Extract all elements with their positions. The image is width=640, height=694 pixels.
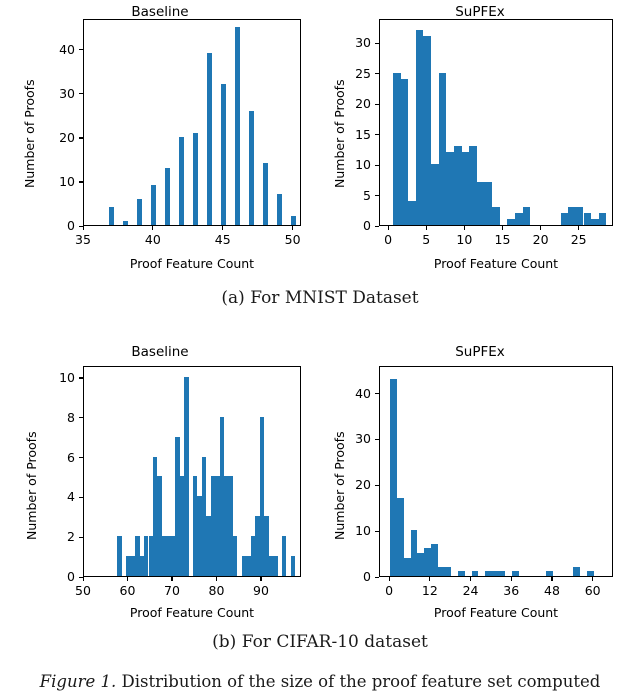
figure-caption: Figure 1. Distribution of the size of th… (0, 672, 640, 691)
bar (291, 216, 296, 225)
x-axis-label: Proof Feature Count (379, 605, 613, 620)
plot-area (83, 19, 301, 226)
bar (249, 111, 254, 226)
y-tick-mark (79, 49, 83, 50)
y-axis-label: Number of Proofs (332, 79, 347, 188)
chart-title: Baseline (0, 4, 320, 20)
x-tick-mark (429, 577, 430, 581)
bar (263, 163, 268, 225)
x-tick-mark (152, 226, 153, 230)
bar (423, 36, 431, 225)
x-tick-label: 25 (559, 232, 599, 247)
x-tick-label: 45 (203, 232, 243, 247)
bar (477, 182, 485, 225)
plot-area (379, 366, 613, 577)
x-tick-label: 35 (63, 232, 103, 247)
figure-caption-text: Distribution of the size of the proof fe… (121, 672, 600, 691)
bar (439, 73, 447, 225)
y-axis-label: Number of Proofs (22, 79, 37, 188)
chart-panel-cifar-baseline: Baseline 02468105060708090 Proof Feature… (0, 340, 320, 620)
x-tick-label: 60 (573, 583, 613, 598)
chart-panel-cifar-supfex: SuPFEx 01020304001224364860 Proof Featur… (320, 340, 640, 620)
y-tick-mark (375, 577, 379, 578)
x-axis-label: Proof Feature Count (83, 256, 301, 271)
x-tick-mark (551, 577, 552, 581)
y-tick-mark (79, 181, 83, 182)
x-tick-mark (83, 226, 84, 230)
x-tick-label: 0 (369, 583, 409, 598)
x-tick-mark (426, 226, 427, 230)
y-tick-mark (79, 417, 83, 418)
bar (576, 207, 584, 225)
y-tick-label: 5 (333, 188, 371, 203)
x-tick-mark (502, 226, 503, 230)
bar (499, 571, 506, 576)
y-tick-label: 40 (37, 42, 75, 57)
y-tick-mark (375, 531, 379, 532)
bar (165, 168, 170, 225)
chart-title: Baseline (0, 344, 320, 360)
bar (123, 221, 128, 225)
x-tick-label: 20 (521, 232, 561, 247)
y-tick-mark (375, 43, 379, 44)
bar (151, 185, 156, 225)
bar (591, 219, 599, 225)
bar (492, 207, 500, 225)
y-tick-label: 0 (333, 218, 371, 233)
y-tick-label: 10 (37, 174, 75, 189)
bar (573, 567, 580, 576)
bar (431, 544, 438, 576)
bars-group (380, 20, 612, 225)
y-tick-label: 8 (37, 410, 75, 425)
x-tick-label: 50 (273, 232, 313, 247)
bar (458, 571, 465, 576)
y-tick-label: 0 (37, 569, 75, 584)
bar (444, 567, 451, 576)
bar (587, 571, 594, 576)
y-tick-label: 6 (37, 450, 75, 465)
bar (492, 571, 499, 576)
bar (523, 207, 531, 225)
bar (408, 201, 416, 225)
x-tick-mark (592, 577, 593, 581)
x-tick-mark (83, 577, 84, 581)
y-tick-label: 4 (37, 489, 75, 504)
plot-area (83, 366, 301, 577)
bar (424, 548, 431, 576)
bar (401, 79, 409, 225)
y-tick-mark (375, 439, 379, 440)
bar (584, 213, 592, 225)
x-tick-mark (578, 226, 579, 230)
y-tick-label: 30 (37, 86, 75, 101)
y-tick-label: 0 (37, 218, 75, 233)
y-tick-mark (375, 226, 379, 227)
bar (291, 556, 295, 576)
x-tick-label: 90 (241, 583, 281, 598)
bar (404, 558, 411, 576)
x-tick-mark (127, 577, 128, 581)
bar (417, 553, 424, 576)
bar (273, 556, 277, 576)
x-tick-mark (388, 226, 389, 230)
x-tick-label: 24 (451, 583, 491, 598)
y-tick-mark (375, 393, 379, 394)
y-tick-label: 2 (37, 529, 75, 544)
bar (109, 207, 114, 225)
bar (393, 73, 401, 225)
bar (179, 137, 184, 225)
bar (469, 146, 477, 225)
bar (431, 164, 439, 225)
y-tick-mark (375, 73, 379, 74)
bar (512, 571, 519, 576)
bar (416, 30, 424, 225)
x-tick-label: 48 (532, 583, 572, 598)
bar (117, 536, 121, 576)
bars-group (380, 367, 612, 576)
x-tick-mark (292, 226, 293, 230)
x-tick-mark (540, 226, 541, 230)
y-tick-mark (375, 165, 379, 166)
x-tick-label: 15 (482, 232, 522, 247)
x-tick-label: 80 (196, 583, 236, 598)
bar (568, 207, 576, 225)
y-tick-mark (79, 137, 83, 138)
bar (411, 530, 418, 576)
x-tick-mark (222, 226, 223, 230)
y-tick-mark (79, 537, 83, 538)
x-axis-label: Proof Feature Count (379, 256, 613, 271)
x-tick-mark (216, 577, 217, 581)
x-tick-mark (260, 577, 261, 581)
y-tick-mark (375, 195, 379, 196)
x-tick-label: 36 (491, 583, 531, 598)
bar (390, 379, 397, 576)
figure-container: Baseline 01020304035404550 Proof Feature… (0, 0, 640, 694)
chart-panel-mnist-supfex: SuPFEx 0510152025300510152025 Proof Feat… (320, 0, 640, 280)
bar (221, 84, 226, 225)
x-tick-label: 50 (63, 583, 103, 598)
plot-area (379, 19, 613, 226)
bar (233, 536, 237, 576)
y-tick-mark (79, 457, 83, 458)
bar (472, 571, 479, 576)
bar (462, 152, 470, 225)
bar (235, 27, 240, 225)
y-tick-mark (79, 377, 83, 378)
x-tick-label: 40 (133, 232, 173, 247)
x-tick-label: 0 (368, 232, 408, 247)
bars-group (84, 20, 300, 225)
y-tick-mark (79, 93, 83, 94)
bar (484, 182, 492, 225)
bar (277, 194, 282, 225)
y-tick-mark (375, 104, 379, 105)
y-tick-label: 30 (333, 35, 371, 50)
y-tick-label: 10 (37, 370, 75, 385)
bar (397, 498, 404, 576)
x-tick-label: 70 (152, 583, 192, 598)
subcaption-b: (b) For CIFAR-10 dataset (0, 632, 640, 652)
bar (507, 219, 515, 225)
chart-panel-mnist-baseline: Baseline 01020304035404550 Proof Feature… (0, 0, 320, 280)
bar (515, 213, 523, 225)
y-tick-label: 40 (333, 386, 371, 401)
x-tick-label: 60 (107, 583, 147, 598)
subcaption-a: (a) For MNIST Dataset (0, 288, 640, 308)
bar (485, 571, 492, 576)
x-axis-label: Proof Feature Count (83, 605, 301, 620)
y-tick-label: 0 (333, 569, 371, 584)
bar (137, 199, 142, 225)
bar (184, 377, 188, 576)
chart-title: SuPFEx (320, 4, 640, 20)
figure-caption-label: Figure 1. (40, 672, 117, 691)
x-tick-mark (470, 577, 471, 581)
bar (454, 146, 462, 225)
bar (561, 213, 569, 225)
bar (438, 567, 445, 576)
bar (207, 53, 212, 225)
x-tick-label: 5 (406, 232, 446, 247)
bar (282, 536, 286, 576)
y-axis-label: Number of Proofs (24, 431, 39, 540)
x-tick-mark (464, 226, 465, 230)
y-axis-label: Number of Proofs (332, 431, 347, 540)
x-tick-label: 10 (444, 232, 484, 247)
x-tick-mark (511, 577, 512, 581)
y-tick-mark (375, 134, 379, 135)
y-tick-label: 20 (37, 130, 75, 145)
bars-group (84, 367, 300, 576)
x-tick-mark (389, 577, 390, 581)
bar (546, 571, 553, 576)
bar (599, 213, 607, 225)
chart-title: SuPFEx (320, 344, 640, 360)
x-tick-mark (171, 577, 172, 581)
y-tick-mark (79, 497, 83, 498)
bar (193, 133, 198, 225)
bar (446, 152, 454, 225)
x-tick-label: 12 (410, 583, 450, 598)
y-tick-mark (375, 485, 379, 486)
